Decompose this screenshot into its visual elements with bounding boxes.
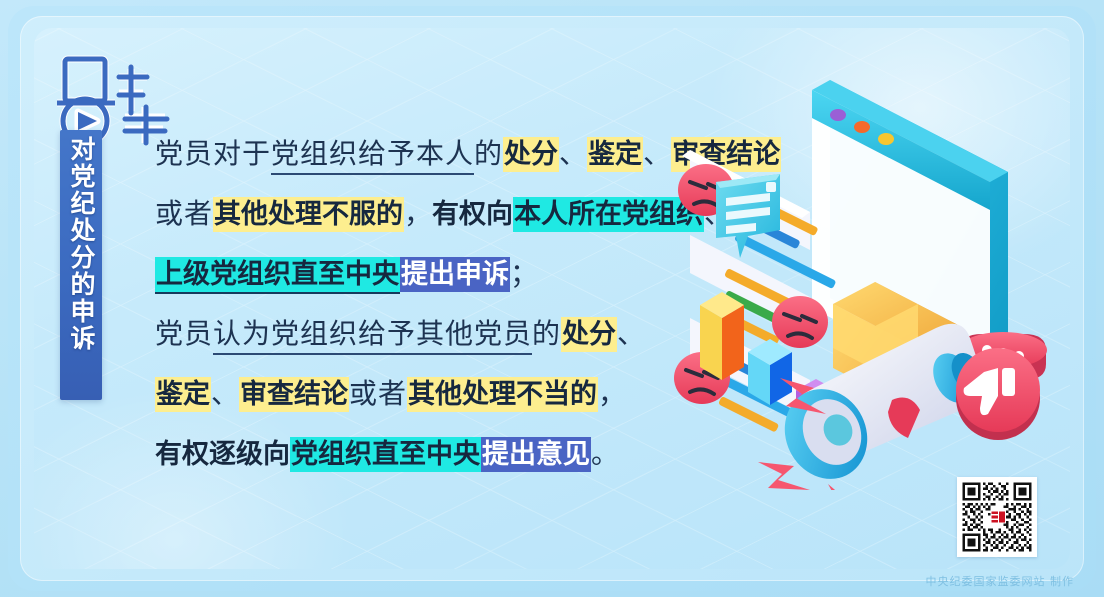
text-segment: 处分	[503, 137, 559, 172]
thumbs-down-badge	[956, 348, 1040, 440]
text-segment: 党员	[155, 319, 213, 350]
text-segment: 鉴定	[587, 137, 643, 172]
text-segment: 党组织直至中央	[290, 437, 481, 472]
poster-root: 对党纪处分的申诉 党员对于党组织给予本人的处分、鉴定、审查结论 或者其他处理不服…	[0, 0, 1104, 597]
text-segment: 其他处理不当的	[407, 377, 598, 412]
text-segment: 或者	[349, 379, 407, 410]
text-segment: 的	[474, 139, 503, 170]
text-segment: 提出申诉	[400, 257, 510, 292]
isometric-illustration	[660, 60, 1060, 490]
vertical-banner: 对党纪处分的申诉	[60, 130, 102, 400]
text-segment: 提出意见	[481, 437, 591, 472]
text-segment: 的	[532, 319, 561, 350]
text-segment: ；	[510, 259, 538, 290]
banner-title: 对党纪处分的申诉	[65, 136, 97, 352]
text-segment: 有权逐级向	[155, 439, 290, 470]
text-segment: 审查结论	[239, 377, 349, 412]
text-segment: 。	[591, 439, 619, 470]
text-segment: 其他处理不服的	[213, 197, 404, 232]
text-segment: 或者	[155, 199, 213, 230]
qr-code[interactable]	[957, 477, 1037, 557]
text-segment: 党组织给予本人	[271, 139, 474, 175]
text-segment: 认为党组织给予其他党员	[213, 319, 532, 355]
text-segment: 、	[559, 139, 587, 170]
text-segment: ，	[598, 379, 626, 410]
credit-text: 中央纪委国家监委网站 制作	[926, 573, 1075, 589]
speech-bubble-icon	[702, 168, 794, 269]
text-segment: 上级党组织直至中央	[155, 257, 400, 294]
angry-face-icon	[772, 296, 828, 348]
text-segment: 、	[211, 379, 239, 410]
text-segment: 处分	[561, 317, 617, 352]
text-segment: 、	[617, 319, 645, 350]
text-segment: 有权向	[432, 199, 513, 230]
text-segment: ，	[404, 199, 432, 230]
text-segment: 鉴定	[155, 377, 211, 412]
text-segment: 党员对于	[155, 139, 271, 170]
